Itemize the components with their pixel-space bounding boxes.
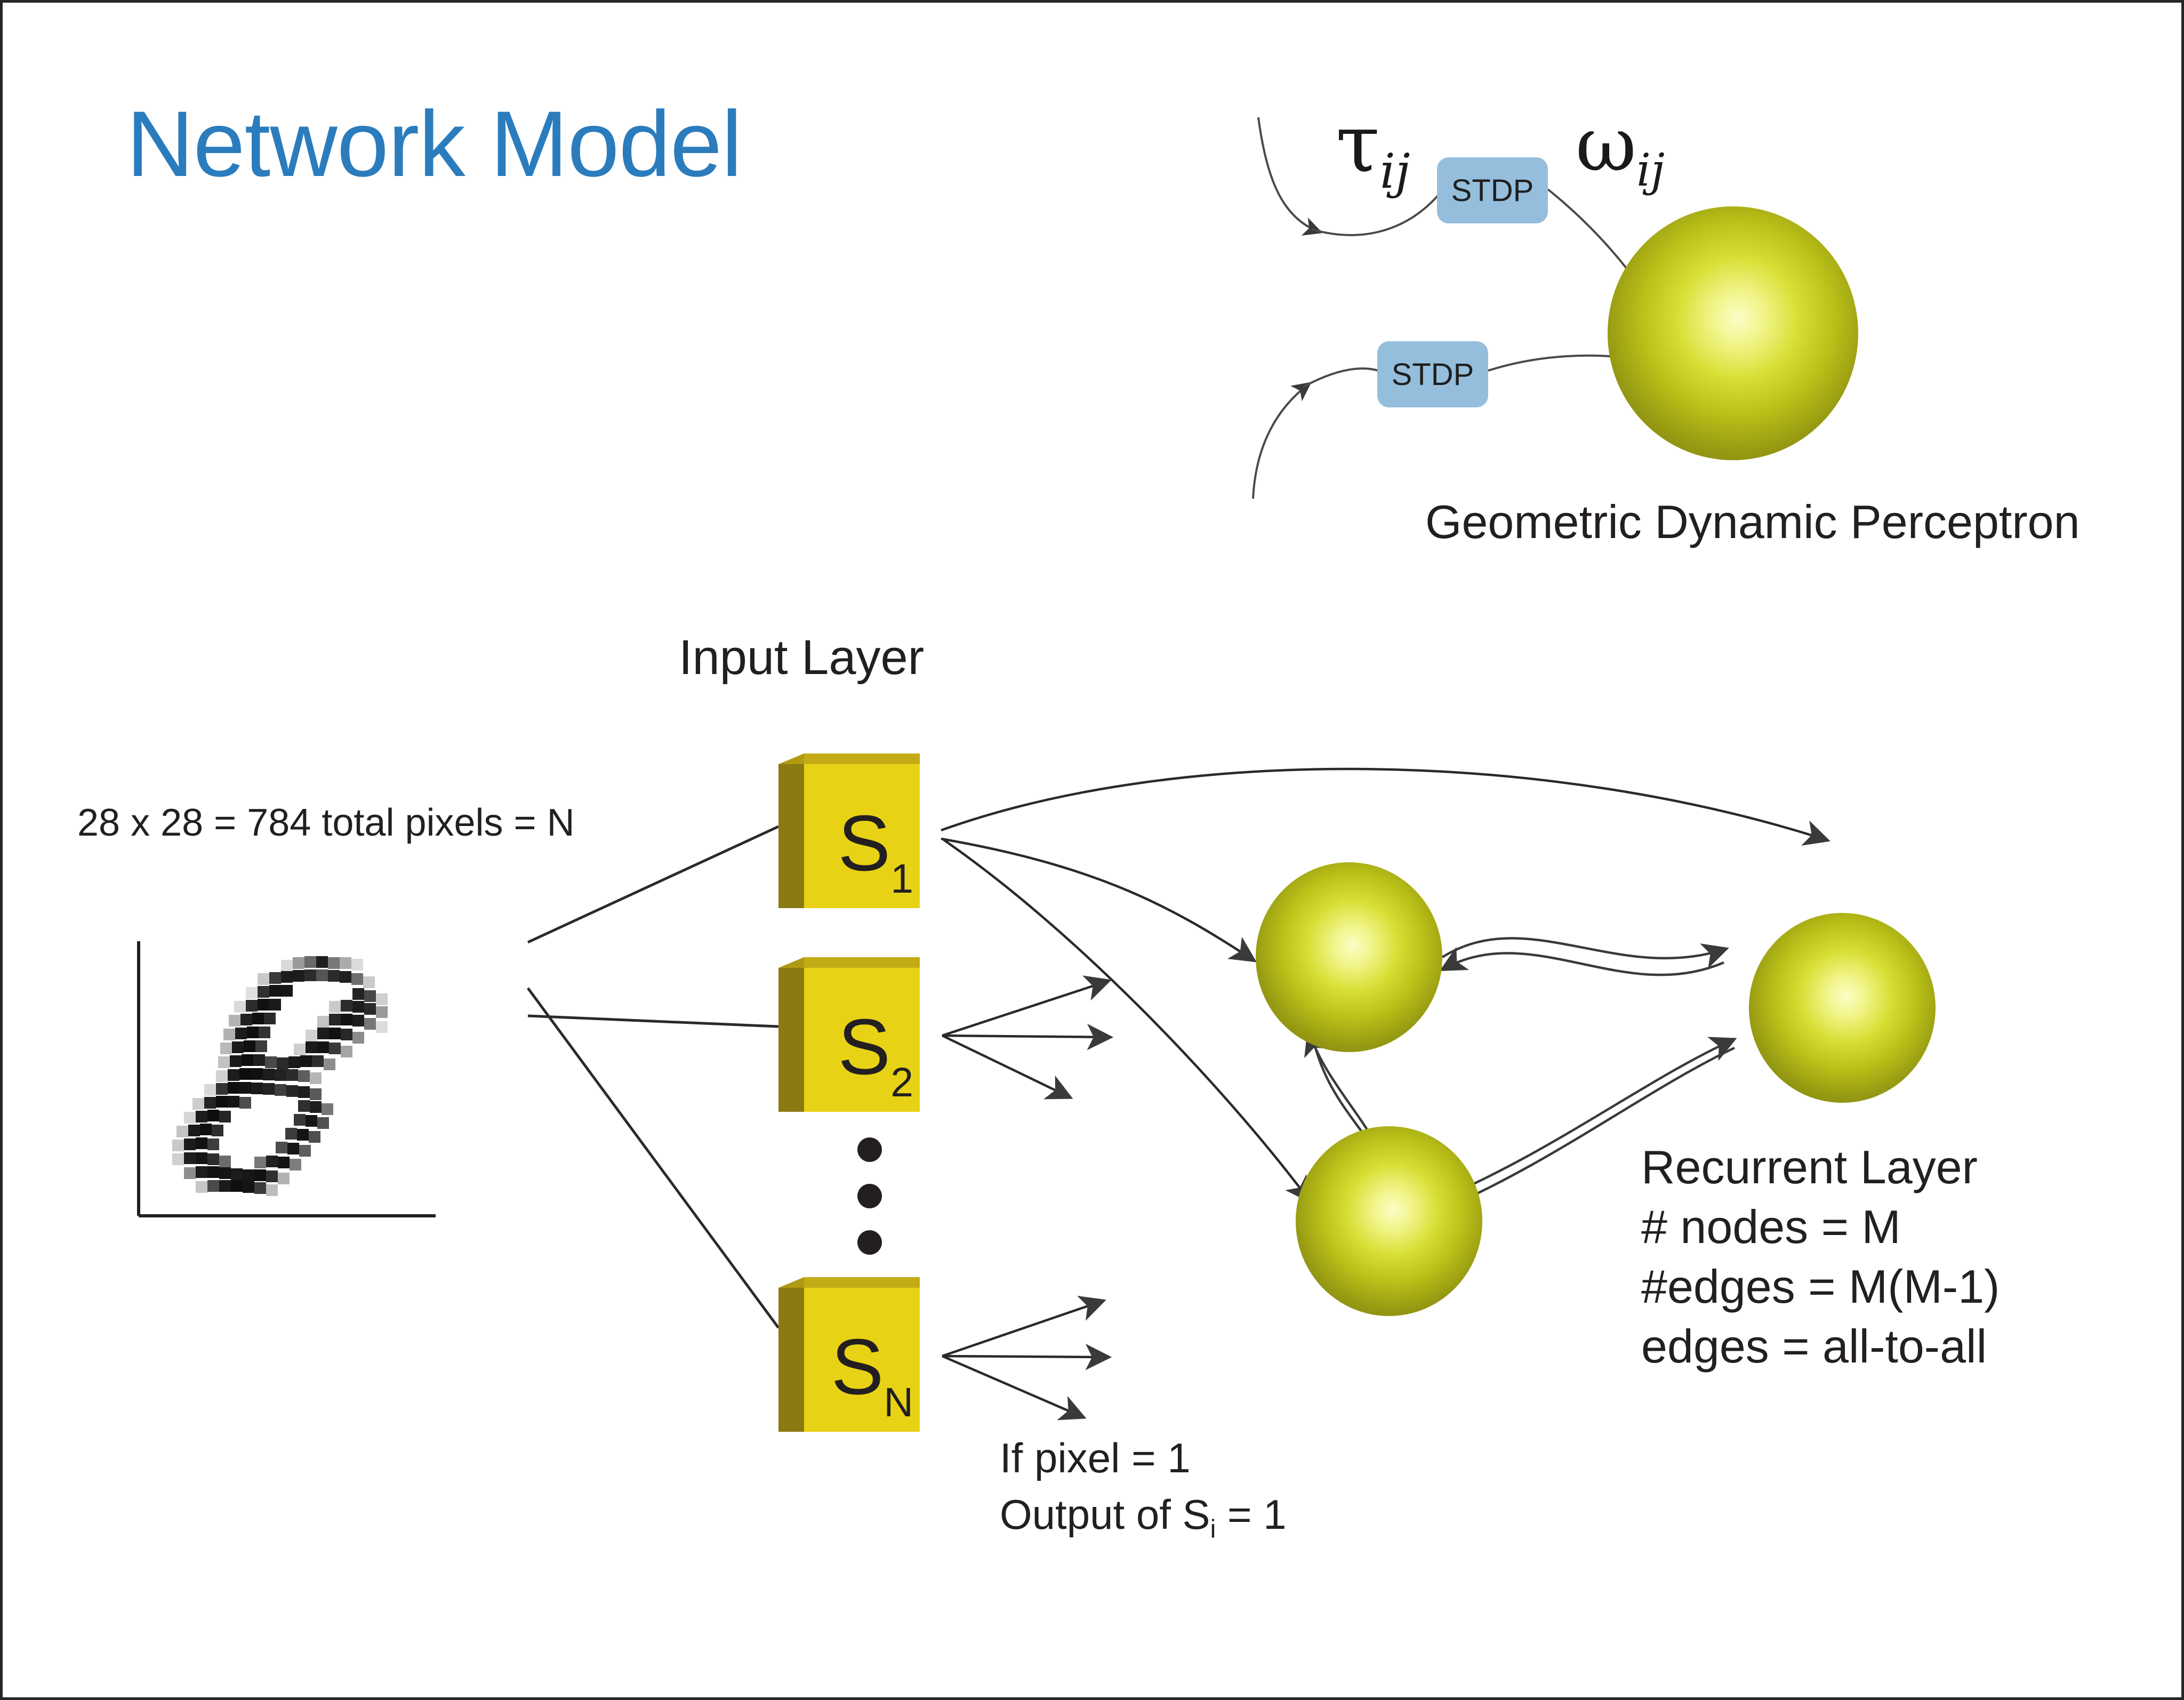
input-node-s2[interactable]: S2 xyxy=(778,957,920,1112)
input-layer-title: Input Layer xyxy=(679,633,924,682)
stdp-box-lower[interactable]: STDP xyxy=(1377,341,1488,407)
recurrent-edges-topology: edges = all-to-all xyxy=(1641,1323,2000,1370)
input-node-s1[interactable]: S1 xyxy=(778,753,920,908)
omega-index: ij xyxy=(1636,144,1665,196)
sn-base: S xyxy=(831,1322,884,1413)
diagram-canvas: Network Model τij ωij STDP STDP Geometri… xyxy=(0,0,2184,1700)
recurrent-layer-title: Recurrent Layer xyxy=(1641,1144,2000,1191)
pixel-rule-prefix: Output of S xyxy=(1000,1491,1210,1538)
pixel-rule-note: If pixel = 1 Output of Si = 1 xyxy=(1000,1437,1287,1557)
input-node-sn-label: SN xyxy=(778,1277,920,1432)
pixel-rule-suffix: = 1 xyxy=(1216,1491,1286,1538)
vertical-ellipsis-dot xyxy=(857,1184,882,1208)
s1-base: S xyxy=(838,798,890,889)
omega-label: ωij xyxy=(1576,101,1665,196)
perceptron-sphere xyxy=(1608,206,1858,460)
s1-index: 1 xyxy=(890,855,913,903)
recurrent-node-2 xyxy=(1749,913,1936,1103)
input-node-s2-label: S2 xyxy=(778,957,920,1112)
s2-base: S xyxy=(838,1002,890,1093)
recurrent-layer-info: Recurrent Layer # nodes = M #edges = M(M… xyxy=(1641,1144,2000,1383)
pixel-rule-subscript: i xyxy=(1210,1515,1216,1544)
recurrent-node-1 xyxy=(1256,862,1442,1052)
vertical-ellipsis-dot xyxy=(857,1137,882,1162)
pixel-count-note: 28 x 28 = 784 total pixels = N xyxy=(77,804,575,842)
sn-output-arrows xyxy=(942,1301,1107,1417)
sn-index: N xyxy=(884,1379,913,1426)
input-node-s1-label: S1 xyxy=(778,753,920,908)
stdp-box-upper[interactable]: STDP xyxy=(1437,157,1548,223)
tau-label: τij xyxy=(1336,98,1410,199)
recurrent-nodes-count: # nodes = M xyxy=(1641,1204,2000,1250)
input-fanout-lines xyxy=(528,827,778,1328)
vertical-ellipsis-dot xyxy=(857,1230,882,1255)
omega-symbol: ω xyxy=(1576,101,1636,188)
s2-index: 2 xyxy=(890,1059,913,1106)
perceptron-caption: Geometric Dynamic Perceptron xyxy=(1425,499,2080,546)
tau-symbol: τ xyxy=(1336,98,1380,190)
recurrent-edges-count: #edges = M(M-1) xyxy=(1641,1263,2000,1310)
page-title: Network Model xyxy=(126,98,742,191)
tau-index: ij xyxy=(1380,143,1410,199)
recurrent-node-3 xyxy=(1296,1126,1482,1316)
input-node-sn[interactable]: SN xyxy=(778,1277,920,1432)
pixel-rule-line-2: Output of Si = 1 xyxy=(1000,1494,1287,1542)
pixel-rule-line-1: If pixel = 1 xyxy=(1000,1437,1287,1479)
s2-output-arrows xyxy=(942,981,1109,1097)
mnist-digit-8-bitmap xyxy=(172,956,388,1196)
